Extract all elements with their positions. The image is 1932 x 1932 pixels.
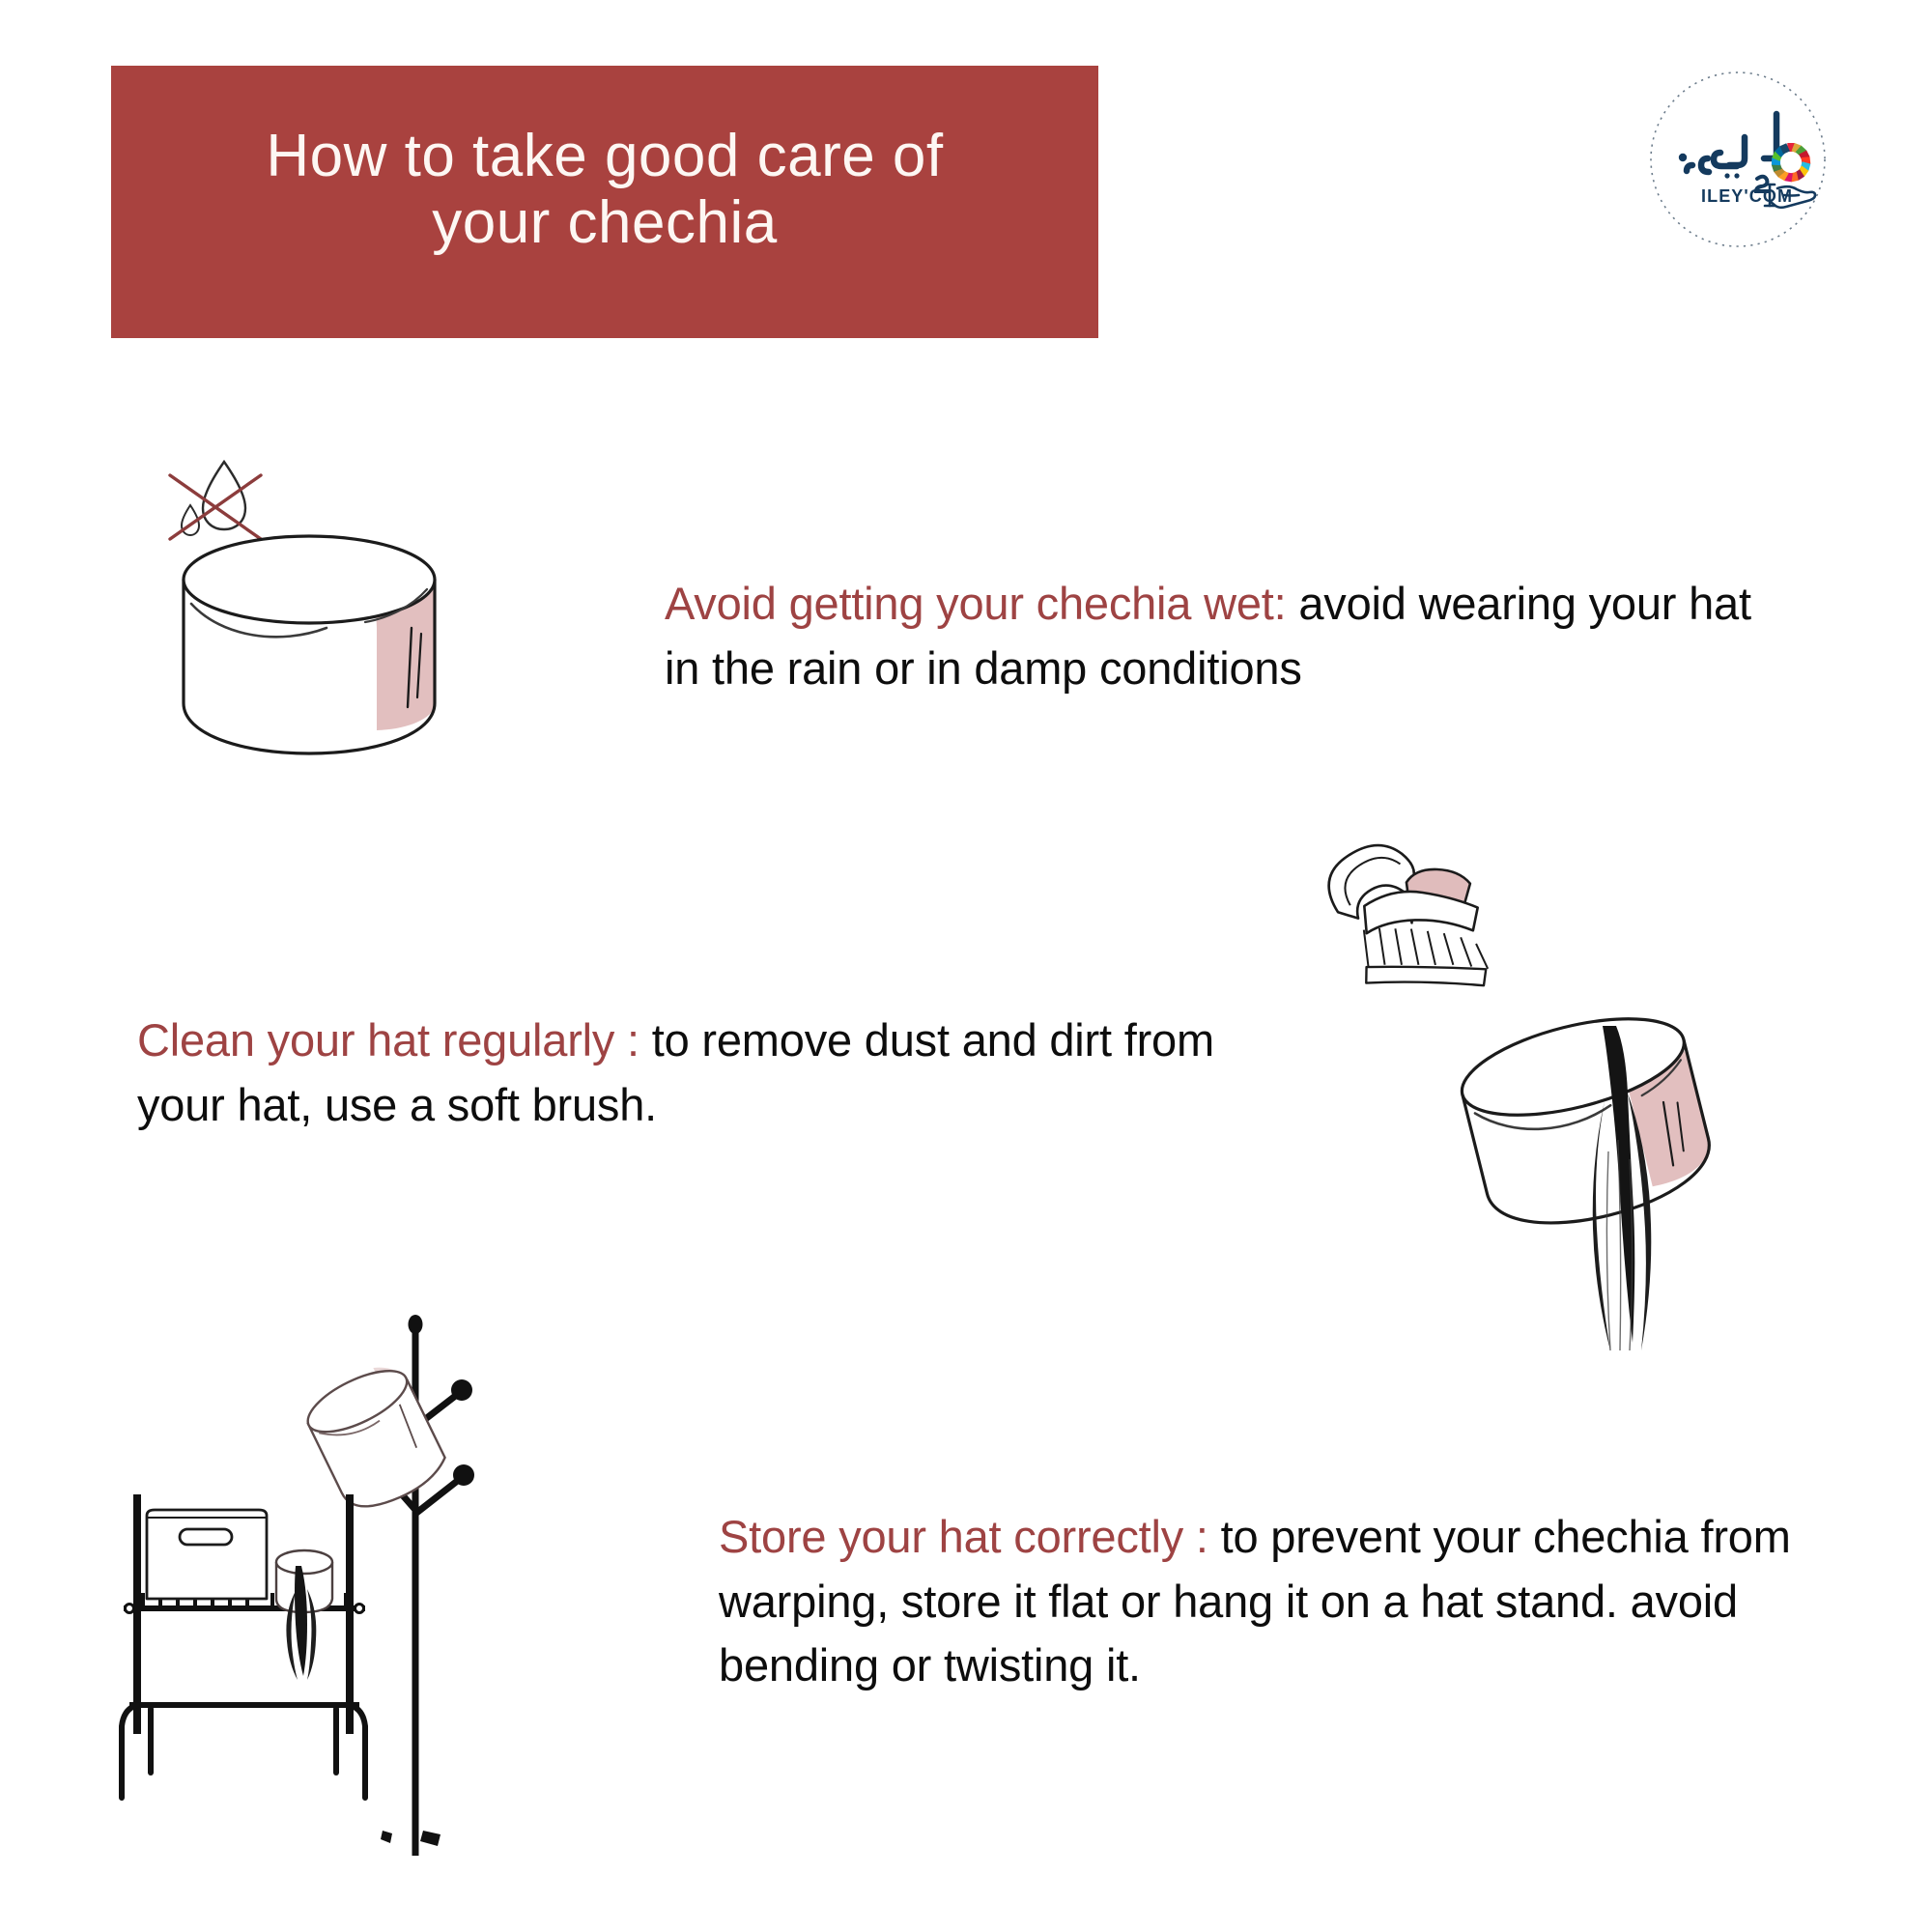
chechia-hat-icon (298, 1357, 452, 1520)
logo-dashed-border (1651, 72, 1825, 246)
tip-clean-regularly-text: Clean your hat regularly : to remove dus… (137, 1009, 1277, 1137)
hat-stand-and-shelf-illustration (97, 1309, 638, 1898)
tip-store-correctly-lead: Store your hat correctly : (719, 1511, 1208, 1562)
page-title: How to take good care of your chechia (111, 66, 1098, 338)
chechia-hat-icon (1453, 1000, 1720, 1242)
page-title-line2: your chechia (432, 189, 778, 256)
water-droplet-icon (203, 462, 245, 529)
tip-avoid-wet-text: Avoid getting your chechia wet: avoid we… (665, 572, 1776, 700)
chechia-hat-icon (184, 536, 435, 753)
logo-arabic-dot (1679, 154, 1687, 161)
logo-latin-wordmark: ILEY'COM (1701, 186, 1793, 206)
cross-out-icon (170, 475, 261, 539)
tip-clean-regularly-lead: Clean your hat regularly : (137, 1014, 639, 1065)
brand-logo: ILEY'COM (1648, 70, 1828, 249)
page-title-line1: How to take good care of (266, 123, 943, 189)
tip-avoid-wet-lead: Avoid getting your chechia wet: (665, 578, 1287, 629)
brush-and-chechia-illustration (1309, 811, 1831, 1352)
chechia-no-water-illustration (145, 444, 570, 782)
soft-brush-icon (1321, 826, 1495, 1015)
header-banner: How to take good care of your chechia (111, 66, 1098, 338)
tip-store-correctly-text: Store your hat correctly : to prevent yo… (719, 1505, 1859, 1698)
storage-box-icon (147, 1510, 267, 1599)
infographic-canvas: How to take good care of your chechia (0, 0, 1932, 1932)
